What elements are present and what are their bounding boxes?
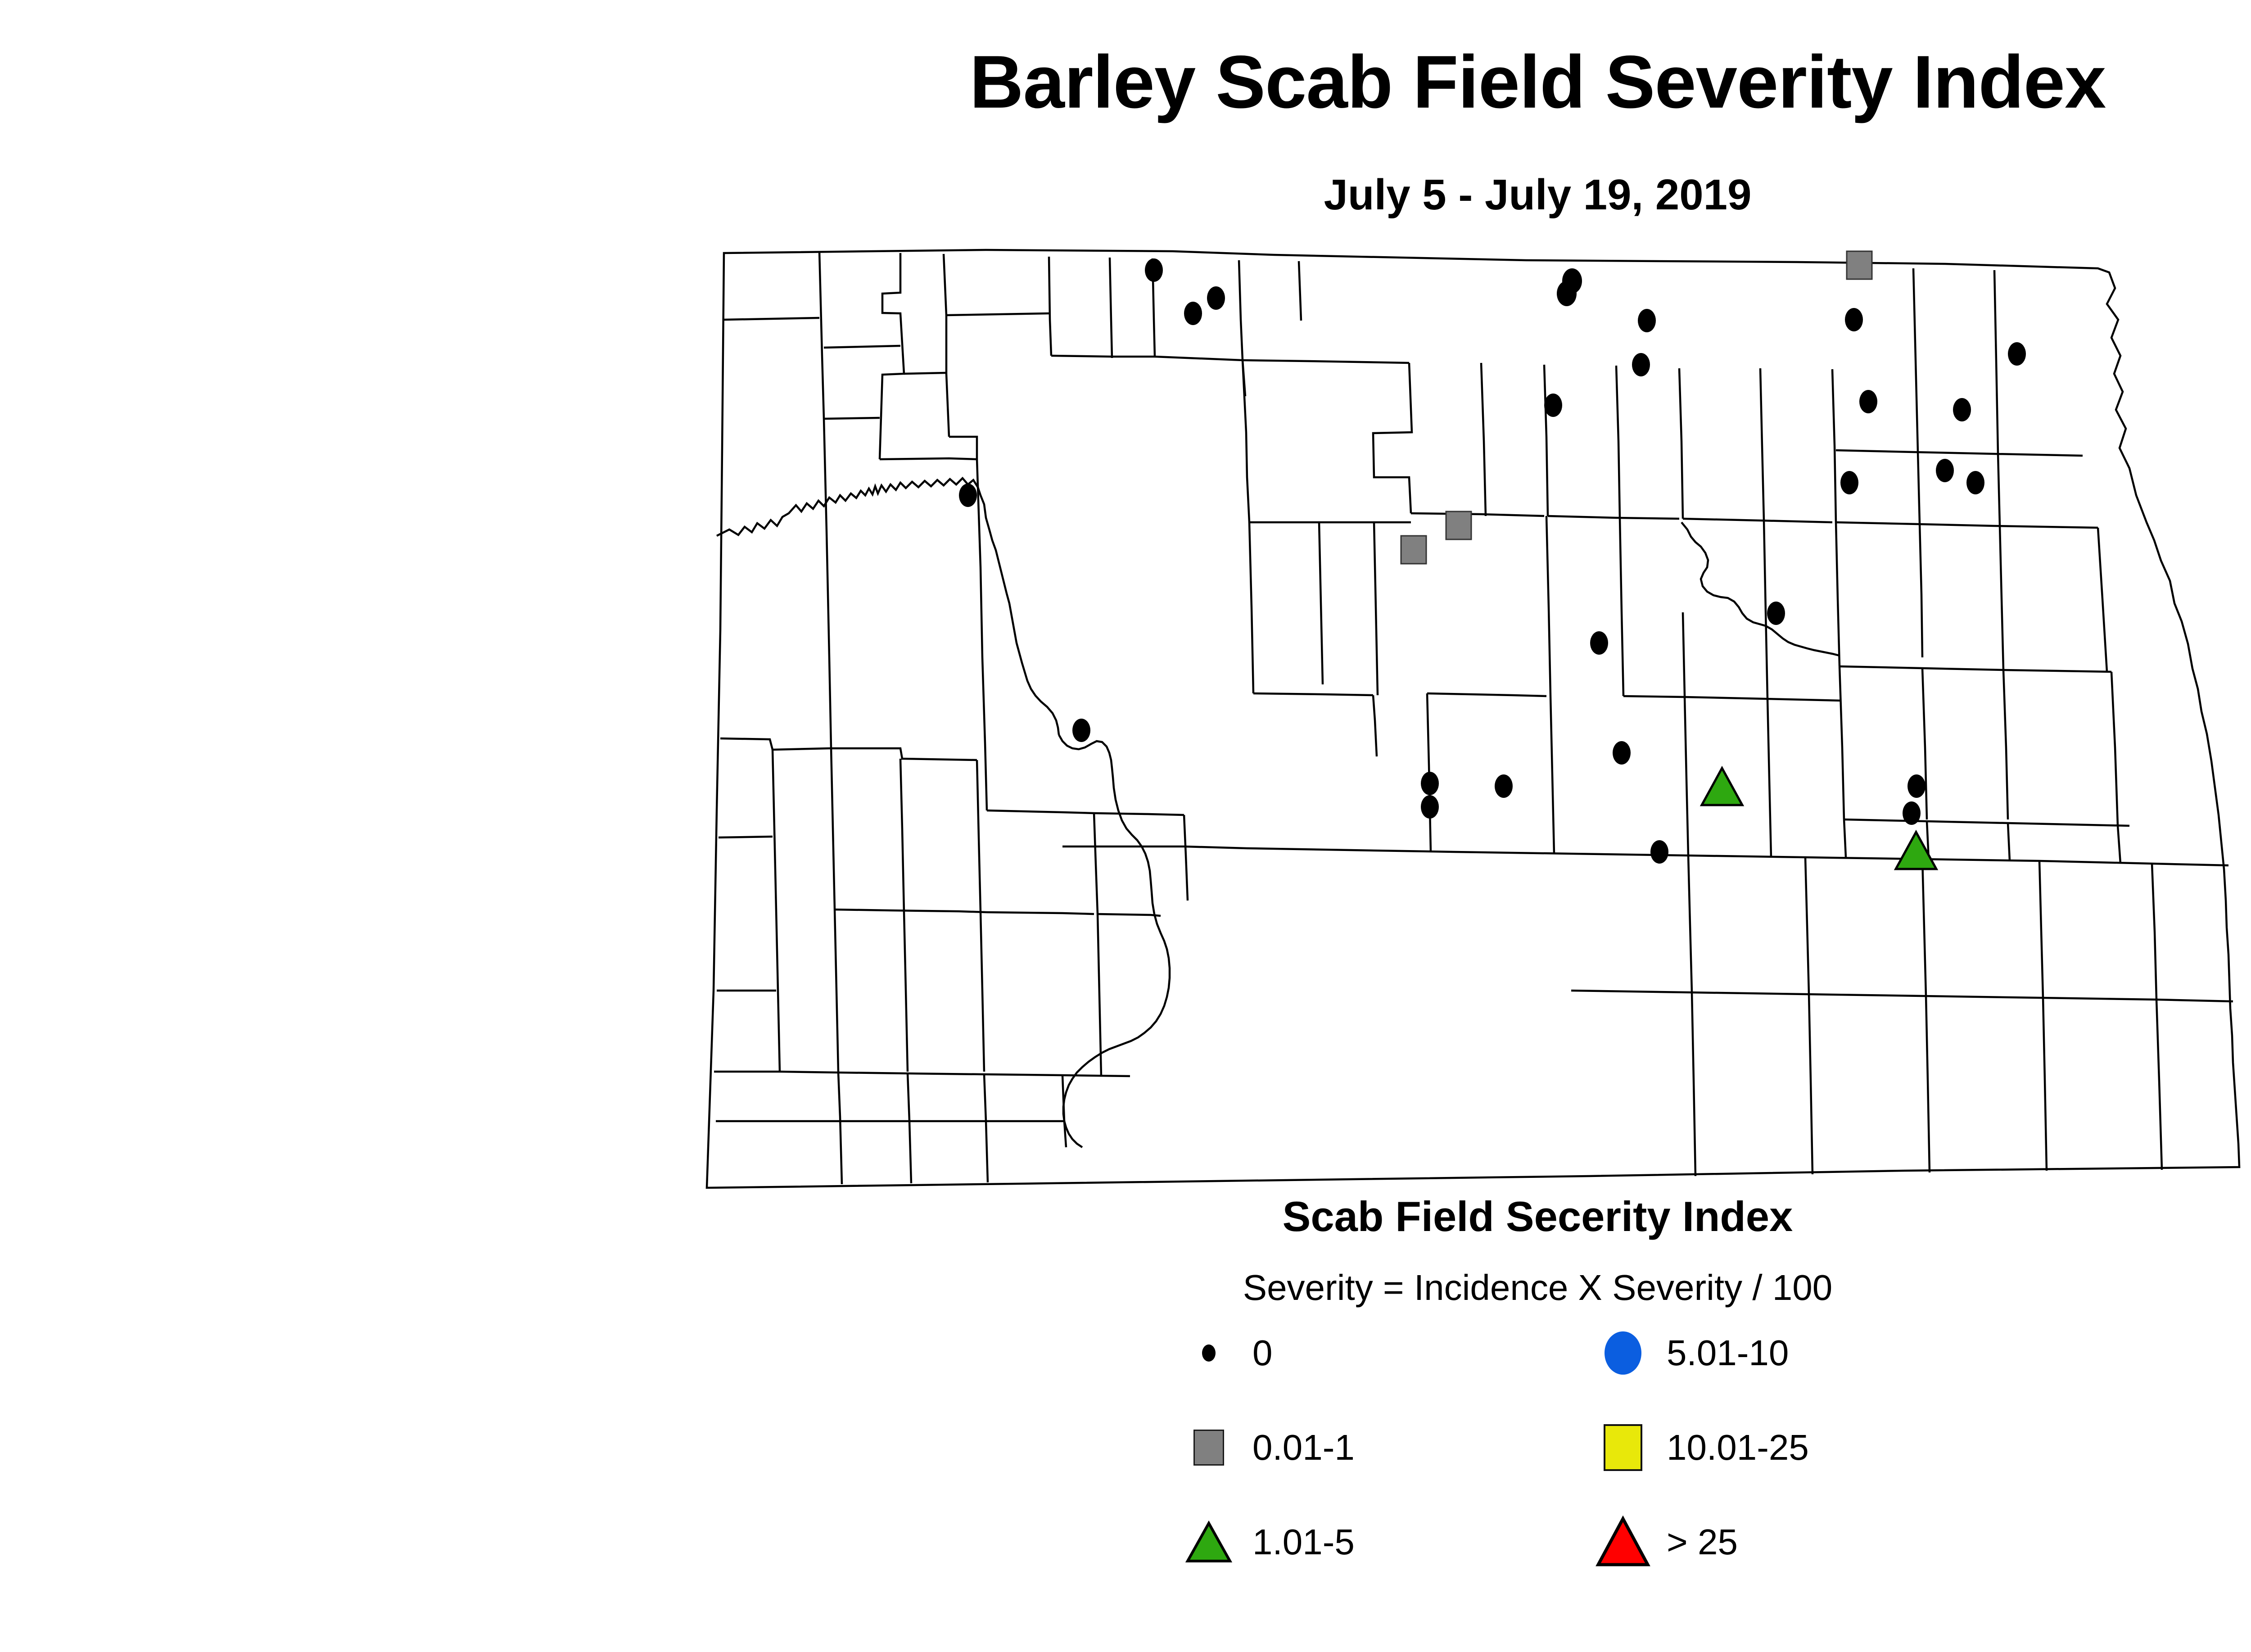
marker-zero	[1072, 719, 1090, 742]
marker-low	[1446, 511, 1471, 539]
county-line-n12	[1299, 261, 1301, 321]
county-line-sw4	[835, 910, 987, 912]
legend-label: 1.01-5	[1252, 1524, 1355, 1560]
county-line-sw17	[1098, 914, 1101, 1076]
county-line-ne11	[2003, 670, 2008, 819]
county-line-n5	[944, 254, 949, 437]
triangle-red-icon	[1594, 1513, 1652, 1571]
county-line-ne13	[1840, 666, 1844, 819]
marker-zero	[1650, 840, 1668, 864]
legend-item-0[interactable]: 0	[1180, 1319, 1273, 1387]
county-line-ne5	[1918, 452, 1920, 524]
legend-item-5-01-10[interactable]: 5.01-10	[1594, 1319, 1789, 1387]
marker-zero	[1145, 258, 1163, 282]
county-line-n11	[1239, 260, 1246, 432]
county-line-ne4	[1836, 522, 2098, 528]
county-line-se2	[1688, 855, 1692, 992]
marker-zero	[1613, 741, 1631, 765]
legend-item-gt-25[interactable]: > 25	[1594, 1508, 1738, 1576]
county-line-se9	[1926, 996, 1930, 1172]
legend-label: > 25	[1667, 1524, 1738, 1560]
county-line-sw20	[984, 1074, 988, 1182]
county-line-sw8	[900, 759, 904, 912]
county-line-c11	[1760, 368, 1764, 520]
legend-item-0-01-1[interactable]: 0.01-1	[1180, 1414, 1355, 1481]
county-line-s16	[2008, 823, 2010, 861]
marker-zero	[959, 484, 977, 507]
county-line-c2	[1373, 363, 1412, 513]
marker-zero	[1632, 353, 1650, 376]
county-line-w6	[827, 531, 829, 657]
county-line-sw9	[829, 748, 977, 760]
marker-zero	[1859, 390, 1877, 413]
county-line-s10	[1765, 699, 1841, 701]
county-line-sw2	[773, 750, 776, 910]
legend-title: Scab Field Secerity Index	[0, 1195, 2251, 1238]
county-line-c7	[1548, 516, 1679, 519]
county-line-ne9	[1840, 666, 2111, 672]
county-line-s4	[1546, 516, 1550, 696]
county-line-se5	[2039, 861, 2043, 998]
county-line-sw1	[831, 747, 835, 910]
county-line-n7	[1049, 257, 1051, 356]
legend-item-10-01-25[interactable]: 10.01-25	[1594, 1414, 1809, 1481]
county-line-ne3	[1994, 270, 1998, 454]
county-line-s9	[1764, 520, 1767, 699]
marker-zero	[1184, 302, 1202, 325]
county-line-s6	[1620, 519, 1623, 696]
county-line-sw25	[1098, 914, 1161, 916]
county-line-h1	[1051, 356, 1243, 360]
county-line-sw13	[1094, 813, 1098, 914]
county-line-c4	[1411, 513, 1544, 516]
county-line-sw19	[908, 1073, 911, 1183]
county-line-cs2	[1184, 815, 1188, 901]
county-line-c1	[1246, 432, 1249, 522]
circle-black-icon	[1180, 1324, 1238, 1382]
county-line-n1	[819, 251, 824, 419]
county-line-ne8	[1920, 524, 1922, 657]
marker-zero	[1953, 398, 1971, 421]
county-line-sw5	[776, 910, 780, 1072]
county-line-ne6	[1998, 454, 2000, 526]
county-line-cs3	[1319, 522, 1323, 684]
county-line-s1	[1062, 846, 1571, 854]
county-line-c8	[1616, 366, 1620, 519]
map-svg	[689, 225, 2251, 1207]
legend-label: 10.01-25	[1667, 1430, 1809, 1466]
north-dakota-county-map[interactable]	[689, 225, 2251, 1207]
county-line-cs1	[1249, 522, 1253, 693]
county-line-ne15	[2111, 672, 2118, 826]
county-line-sw14	[981, 912, 984, 1072]
county-line-s14	[1844, 819, 1846, 857]
county-line-sw11	[987, 810, 1094, 813]
legend-label: 5.01-10	[1667, 1335, 1789, 1371]
marker-zero	[1903, 801, 1921, 825]
marker-zero	[1767, 602, 1785, 625]
legend: 0 5.01-10 0.01-1 10.01-25	[1180, 1319, 2080, 1598]
county-line-sw10	[977, 760, 981, 912]
county-line-c6	[1544, 365, 1548, 516]
square-yellow-icon	[1594, 1418, 1652, 1477]
county-line-c9	[1679, 368, 1683, 519]
state-outline	[707, 250, 2239, 1188]
marker-zero	[1544, 394, 1562, 417]
lake-sakakawea	[717, 478, 1059, 735]
county-line-s3	[1427, 693, 1546, 696]
missouri-river	[1059, 735, 1170, 1147]
marker-zero	[1207, 286, 1225, 310]
county-line-n6	[904, 373, 946, 374]
figure-canvas: Barley Scab Field Severity Index July 5 …	[0, 0, 2251, 1652]
square-gray-icon	[1180, 1418, 1238, 1477]
county-line-ne1	[1836, 450, 2083, 456]
county-line-se1	[1571, 991, 2233, 1001]
marker-zero	[1557, 281, 1577, 306]
county-line-c12	[1832, 369, 1836, 522]
county-line-ne14	[1844, 819, 2129, 826]
devils-lake	[1681, 522, 1840, 656]
county-line-se6	[2152, 864, 2156, 1000]
county-line-w3	[824, 419, 827, 531]
marker-zero	[1590, 631, 1608, 655]
legend-label: 0	[1252, 1335, 1273, 1371]
triangle-green-icon	[1180, 1513, 1238, 1571]
county-line-cs6	[1374, 522, 1378, 695]
date-range-subtitle: July 5 - July 19, 2019	[0, 173, 2251, 217]
county-line-sw24	[1094, 813, 1184, 815]
marker-low	[1847, 251, 1872, 279]
county-line-n3	[880, 253, 904, 459]
county-line-sw3	[719, 837, 773, 837]
marker-mid	[1702, 768, 1742, 805]
county-line-se8	[1809, 994, 1813, 1174]
legend-formula: Severity = Incidence X Severity / 100	[0, 1270, 2251, 1306]
county-line-ne2	[1913, 268, 1918, 452]
marker-zero	[1638, 309, 1656, 332]
county-line-sw15	[904, 912, 908, 1072]
marker-zero	[1421, 772, 1439, 795]
marker-zero	[1936, 459, 1954, 482]
county-line-c5	[1481, 363, 1486, 516]
circle-blue-icon	[1594, 1324, 1652, 1382]
county-line-ne12	[1922, 668, 1927, 819]
county-line-s8	[1623, 696, 1765, 699]
county-line-cs4	[1253, 693, 1373, 695]
page-title: Barley Scab Field Severity Index	[0, 45, 2251, 120]
county-line-w4	[949, 437, 977, 459]
county-line-ne7	[1836, 522, 1840, 666]
county-line-s17	[2118, 826, 2120, 864]
marker-zero	[1845, 308, 1863, 331]
county-line-n2	[724, 318, 819, 320]
county-line-sw7	[835, 910, 838, 1072]
county-line-ne16	[2098, 528, 2107, 672]
county-line-se4	[1922, 859, 1926, 996]
county-line-n4	[824, 346, 900, 348]
data-markers	[959, 251, 2026, 869]
legend-label: 0.01-1	[1252, 1430, 1355, 1466]
marker-zero	[2008, 342, 2026, 366]
county-line-se3	[1805, 857, 1809, 994]
county-line-sw21	[1062, 1075, 1066, 1147]
legend-item-1-01-5[interactable]: 1.01-5	[1180, 1508, 1355, 1576]
marker-zero	[1907, 774, 1926, 798]
county-line-n8	[946, 313, 1049, 315]
county-line-w8	[720, 738, 829, 750]
county-line-c10	[1683, 519, 1832, 522]
county-line-cs5	[1373, 695, 1377, 756]
county-line-sw18	[838, 1073, 842, 1184]
county-line-s5	[1550, 696, 1554, 854]
marker-zero	[1966, 471, 1984, 494]
county-line-s7	[1683, 612, 1685, 696]
county-line-sw12	[987, 912, 1094, 914]
county-line-ne10	[2000, 526, 2003, 670]
marker-zero	[1421, 795, 1439, 819]
county-line-se10	[2043, 998, 2047, 1171]
marker-mid	[1896, 832, 1936, 869]
marker-zero	[1840, 471, 1858, 494]
marker-low	[1401, 536, 1426, 564]
county-line-s13	[1685, 697, 1688, 855]
county-line-s12	[1767, 699, 1771, 857]
county-line-w7	[829, 657, 831, 747]
county-line-se7	[1692, 992, 1695, 1176]
county-line-c13	[1243, 360, 1245, 396]
county-line-se11	[2156, 1000, 2162, 1170]
county-line-n9	[1110, 258, 1112, 358]
county-line-w2	[880, 458, 977, 459]
county-line-h2	[1243, 360, 1409, 363]
county-line-w1	[824, 418, 880, 419]
marker-zero	[1495, 774, 1513, 798]
